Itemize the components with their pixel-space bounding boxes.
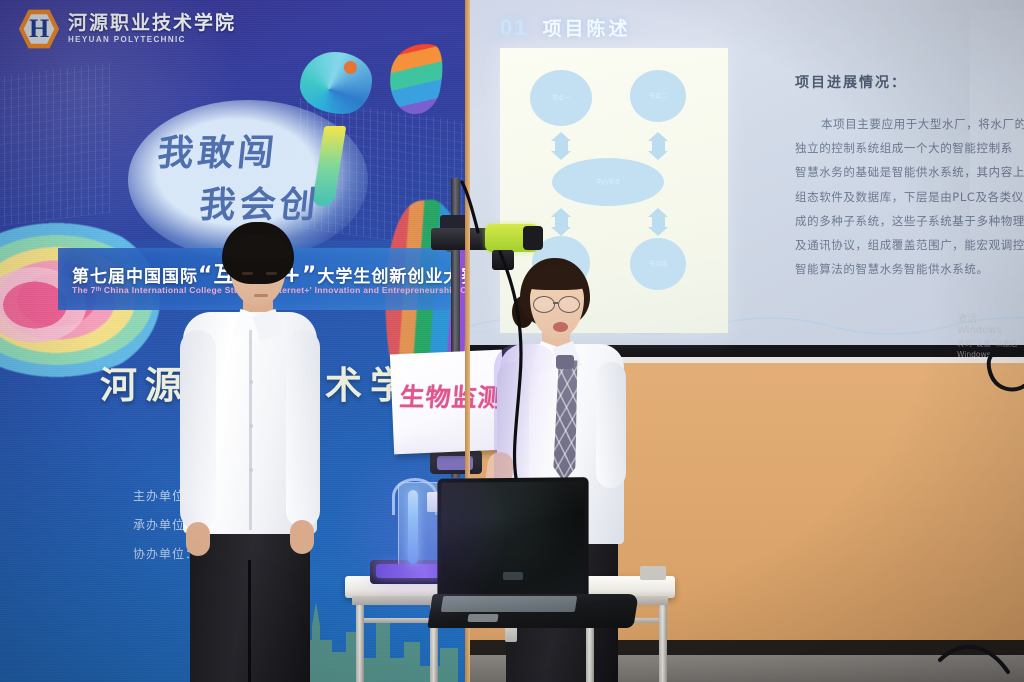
hanging-cable-right — [0, 0, 1024, 682]
photo-scene: 01 项目陈述 节点一 节点二 中心节点 节点三 节点四 项目进展情况： 本项目… — [0, 0, 1024, 682]
